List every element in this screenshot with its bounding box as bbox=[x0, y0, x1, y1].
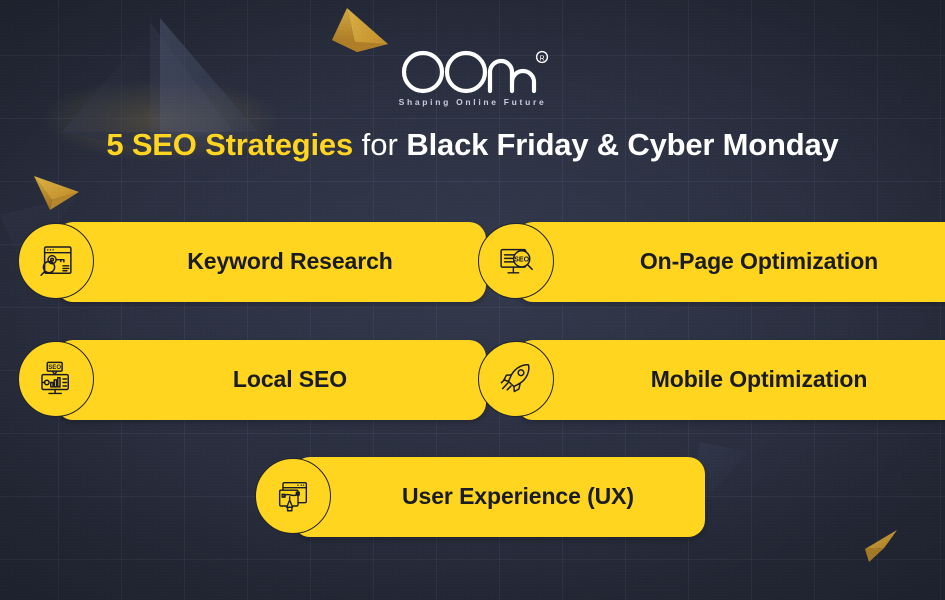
strategy-label: Mobile Optimization bbox=[516, 366, 945, 393]
strategy-item-keyword-research[interactable]: Keyword Research bbox=[18, 220, 486, 302]
infographic-canvas: R Shaping Online Future 5 SEO Strategies… bbox=[0, 0, 945, 600]
strategy-label: Local SEO bbox=[56, 366, 486, 393]
browser-pen-tool-icon bbox=[273, 476, 313, 516]
title-part-yellow: 5 SEO Strategies bbox=[106, 127, 353, 162]
title-part-white: Black Friday & Cyber Monday bbox=[406, 127, 838, 162]
strategy-label: User Experience (UX) bbox=[293, 483, 705, 510]
strategy-item-local-seo[interactable]: SEO Local SEO bbox=[18, 338, 486, 420]
title-part-connector: for bbox=[353, 127, 406, 162]
browser-key-magnifier-icon bbox=[35, 240, 77, 282]
brand-logo: R Shaping Online Future bbox=[0, 48, 945, 107]
svg-text:R: R bbox=[539, 55, 544, 62]
logo-tagline: Shaping Online Future bbox=[399, 97, 547, 107]
strategy-label: Keyword Research bbox=[56, 248, 486, 275]
strategy-row-1-right: SEO On-Page Optimization bbox=[478, 220, 945, 302]
strategy-row-2-left: SEO Local SEO bbox=[18, 338, 486, 420]
svg-text:SEO: SEO bbox=[514, 256, 530, 264]
badge-keyword-research bbox=[18, 223, 94, 299]
strategy-item-mobile-optimization[interactable]: Mobile Optimization bbox=[478, 338, 945, 420]
strategy-label: On-Page Optimization bbox=[516, 248, 945, 275]
strategy-row-1: Keyword Research bbox=[18, 220, 486, 302]
badge-local-seo: SEO bbox=[18, 341, 94, 417]
strategy-item-user-experience[interactable]: User Experience (UX) bbox=[255, 455, 705, 537]
oom-logo-icon: R bbox=[397, 48, 549, 94]
svg-text:SEO: SEO bbox=[48, 364, 61, 371]
page-title: 5 SEO Strategies for Black Friday & Cybe… bbox=[0, 128, 945, 162]
monitor-seo-magnifier-icon: SEO bbox=[495, 240, 537, 282]
monitor-seo-chart-icon: SEO bbox=[35, 358, 77, 400]
badge-user-experience bbox=[255, 458, 331, 534]
strategy-row-3: User Experience (UX) bbox=[255, 455, 705, 537]
rocket-icon bbox=[496, 359, 536, 399]
strategy-row-2-right: Mobile Optimization bbox=[478, 338, 945, 420]
strategy-item-on-page-optimization[interactable]: SEO On-Page Optimization bbox=[478, 220, 945, 302]
badge-mobile-optimization bbox=[478, 341, 554, 417]
badge-on-page-optimization: SEO bbox=[478, 223, 554, 299]
